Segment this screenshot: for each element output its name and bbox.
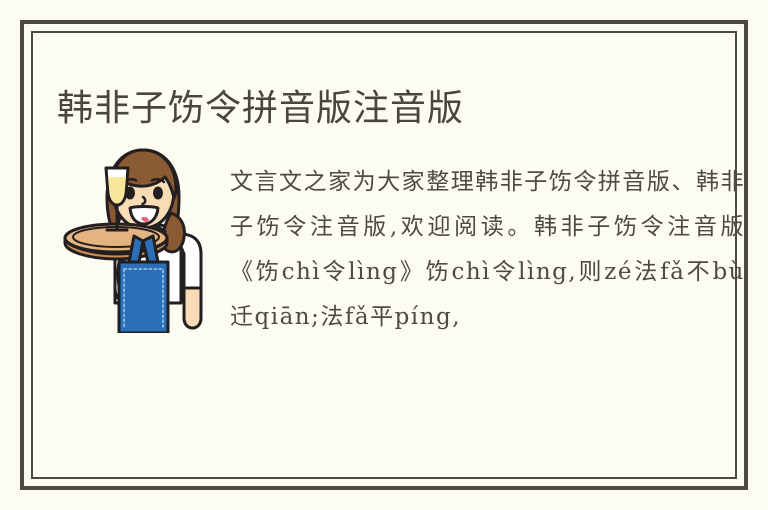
document-page: 韩非子饬令拼音版注音版	[0, 0, 768, 510]
waitress-with-tray-illustration	[55, 138, 220, 333]
article-body-text: 文言文之家为大家整理韩非子饬令拼音版、韩非子饬令注音版,欢迎阅读。韩非子饬令注音…	[230, 160, 745, 400]
article-content: 文言文之家为大家整理韩非子饬令拼音版、韩非子饬令注音版,欢迎阅读。韩非子饬令注音…	[45, 138, 725, 398]
page-title: 韩非子饬令拼音版注音版	[57, 86, 464, 132]
